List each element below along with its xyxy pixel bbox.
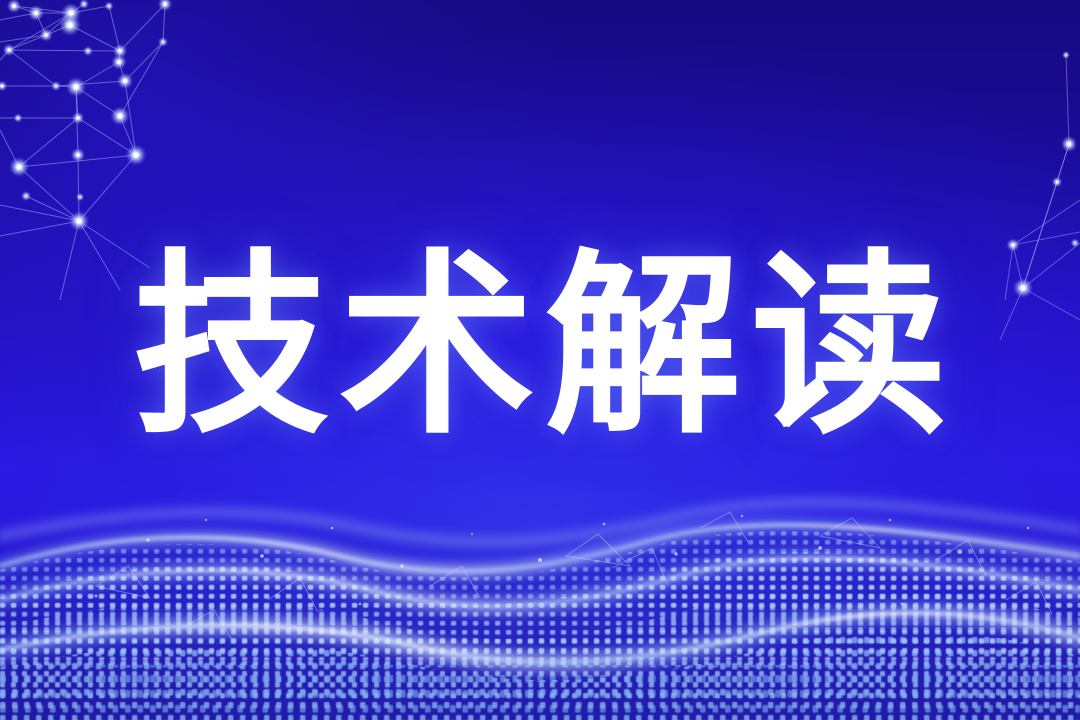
tech-banner: 技术解读 <box>0 0 1080 720</box>
wave-layer <box>0 0 1080 720</box>
